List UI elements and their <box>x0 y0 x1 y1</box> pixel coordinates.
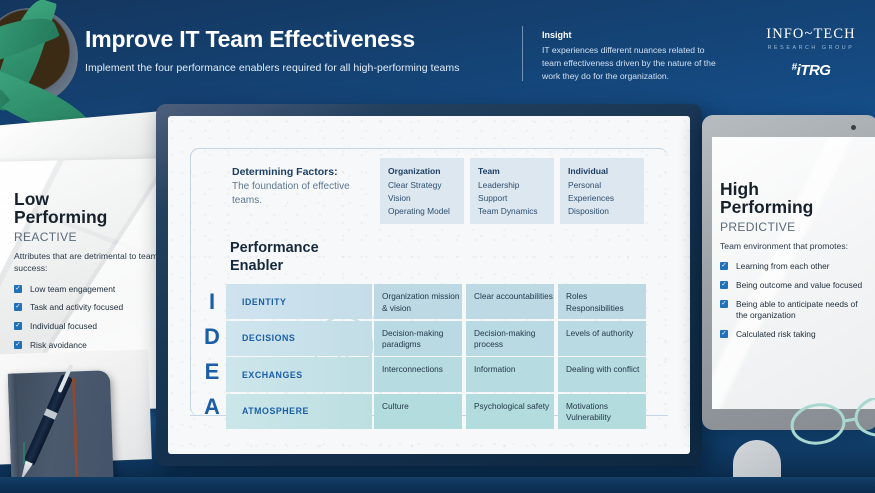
brand-logo: INFO~TECH RESEARCH GROUP #iTRG <box>757 26 865 79</box>
column-header-team: Team Leadership Support Team Dynamics <box>470 158 554 224</box>
check-icon: ✓ <box>720 330 728 338</box>
check-icon: ✓ <box>720 281 728 289</box>
list-item: ✓Calculated risk taking <box>720 329 870 341</box>
cell-atmosphere-team: Psychological safety <box>466 394 554 429</box>
cell-decisions-individual: Levels of authority <box>558 321 646 356</box>
monitor-screen: Determining Factors: The foundation of e… <box>168 116 690 454</box>
list-item: ✓Being able to anticipate needs of the o… <box>720 299 870 323</box>
list-item-label: Learning from each other <box>736 261 830 271</box>
monitor-frame: Determining Factors: The foundation of e… <box>156 104 702 466</box>
insight-title: Insight <box>542 30 722 40</box>
idea-letter-e: E <box>200 354 224 389</box>
list-item: ✓Individual focused <box>14 321 164 333</box>
mouse-divider <box>23 442 25 464</box>
high-performing-list: ✓Learning from each other ✓Being outcome… <box>720 261 870 341</box>
logo-infotech: INFO~TECH <box>757 26 865 43</box>
column-header-team-items: Leadership Support Team Dynamics <box>478 179 554 217</box>
logo-itrg: #iTRG <box>757 62 865 79</box>
matrix-row-atmosphere: ATMOSPHERE Culture Psychological safety … <box>226 394 646 429</box>
cell-atmosphere-individual: Motivations Vulnerability <box>558 394 646 429</box>
high-performing-mode: PREDICTIVE <box>720 220 870 234</box>
low-performing-list: ✓Low team engagement ✓Task and activity … <box>14 284 164 352</box>
cell-identity-individual: Roles Responsibilities <box>558 284 646 319</box>
low-performing-mode: REACTIVE <box>14 230 164 244</box>
idea-matrix: IDENTITY Organization mission & vision C… <box>226 284 646 430</box>
check-icon: ✓ <box>14 303 22 311</box>
matrix-row-exchanges: EXCHANGES Interconnections Information D… <box>226 357 646 392</box>
list-item: ✓Risk avoidance <box>14 340 164 352</box>
column-header-organization: Organization Clear Strategy Vision Opera… <box>380 158 464 224</box>
low-performing-description: Attributes that are detrimental to team … <box>14 250 164 275</box>
page-title: Improve IT Team Effectiveness <box>85 26 460 53</box>
column-header-team-title: Team <box>478 166 554 176</box>
check-icon: ✓ <box>720 300 728 308</box>
column-header-individual-items: Personal Experiences Disposition <box>568 179 644 217</box>
cell-decisions-team: Decision-making process <box>466 321 554 356</box>
list-item-label: Calculated risk taking <box>736 329 816 339</box>
list-item: ✓Task and activity focused <box>14 302 164 314</box>
high-performing-panel: HighPerforming PREDICTIVE Team environme… <box>720 180 870 348</box>
cell-identity-team: Clear accountabilities <box>466 284 554 319</box>
high-performing-heading: HighPerforming <box>720 180 870 217</box>
list-item-label: Being outcome and value focused <box>736 280 862 290</box>
check-icon: ✓ <box>14 285 22 293</box>
low-performing-heading: LowPerforming <box>14 190 164 227</box>
performance-enabler-title: PerformanceEnabler <box>230 240 319 275</box>
insight-panel: Insight IT experiences different nuances… <box>542 30 722 83</box>
list-item-label: Individual focused <box>30 321 97 331</box>
matrix-row-identity: IDENTITY Organization mission & vision C… <box>226 284 646 319</box>
header-divider <box>522 26 523 81</box>
cell-exchanges-organization: Interconnections <box>374 357 462 392</box>
check-icon: ✓ <box>14 341 22 349</box>
title-block: Improve IT Team Effectiveness Implement … <box>85 26 460 74</box>
enabler-label-identity: IDENTITY <box>226 284 372 319</box>
cell-exchanges-team: Information <box>466 357 554 392</box>
check-icon: ✓ <box>720 262 728 270</box>
logo-itrg-text: iTRG <box>797 62 831 79</box>
cell-identity-organization: Organization mission & vision <box>374 284 462 319</box>
logo-research-group: RESEARCH GROUP <box>757 45 865 51</box>
cell-atmosphere-organization: Culture <box>374 394 462 429</box>
column-header-individual-title: Individual <box>568 166 644 176</box>
high-performing-description: Team environment that promotes: <box>720 240 870 252</box>
low-performing-panel: LowPerforming REACTIVE Attributes that a… <box>14 190 164 359</box>
glasses-icon <box>790 398 875 450</box>
cell-exchanges-individual: Dealing with conflict <box>558 357 646 392</box>
list-item-label: Being able to anticipate needs of the or… <box>736 299 858 321</box>
enabler-label-exchanges: EXCHANGES <box>226 357 372 392</box>
enabler-label-atmosphere: ATMOSPHERE <box>226 394 372 429</box>
page-subtitle: Implement the four performance enablers … <box>85 62 460 74</box>
column-header-individual: Individual Personal Experiences Disposit… <box>560 158 644 224</box>
column-header-organization-items: Clear Strategy Vision Operating Model <box>388 179 464 217</box>
list-item-label: Low team engagement <box>30 284 115 294</box>
enabler-label-decisions: DECISIONS <box>226 321 372 356</box>
list-item: ✓Learning from each other <box>720 261 870 273</box>
cell-decisions-organization: Decision-making paradigms <box>374 321 462 356</box>
column-header-organization-title: Organization <box>388 166 464 176</box>
header-bar: Improve IT Team Effectiveness Implement … <box>0 0 875 100</box>
list-item: ✓Being outcome and value focused <box>720 280 870 292</box>
determining-factors-title: Determining Factors: <box>232 166 382 178</box>
idea-letter-d: D <box>200 319 224 354</box>
camera-icon <box>851 125 856 130</box>
list-item: ✓Low team engagement <box>14 284 164 296</box>
list-item-label: Risk avoidance <box>30 340 87 350</box>
determining-factors-subtitle: The foundation of effective teams. <box>232 180 382 208</box>
infographic-slide: Improve IT Team Effectiveness Implement … <box>0 0 875 493</box>
check-icon: ✓ <box>14 322 22 330</box>
list-item-label: Task and activity focused <box>30 302 123 312</box>
idea-acronym: I D E A <box>200 284 224 424</box>
insight-body: IT experiences different nuances related… <box>542 44 722 83</box>
desk-edge <box>0 477 875 493</box>
idea-letter-i: I <box>200 284 224 319</box>
idea-letter-a: A <box>200 389 224 424</box>
determining-factors-label: Determining Factors: The foundation of e… <box>232 166 382 208</box>
matrix-row-decisions: DECISIONS Decision-making paradigms Deci… <box>226 321 646 356</box>
